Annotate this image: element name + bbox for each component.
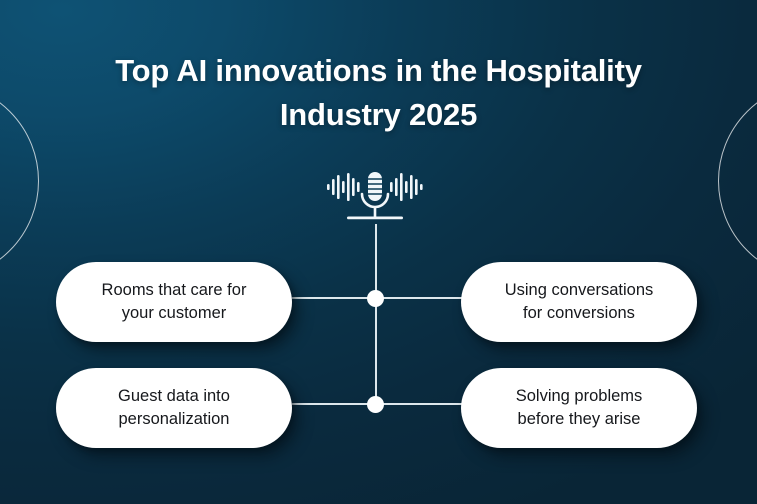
connector-line-vertical [375,224,377,404]
card-label: Solving problems before they arise [516,385,643,431]
card-conversations-conversions[interactable]: Using conversations for conversions [461,262,697,342]
card-label: Rooms that care for your customer [102,279,247,325]
connector-line-horizontal-bottom [292,403,464,405]
card-rooms-that-care[interactable]: Rooms that care for your customer [56,262,292,342]
connector-node-top [367,290,384,307]
card-solving-problems[interactable]: Solving problems before they arise [461,368,697,448]
card-label: Guest data into personalization [118,385,230,431]
connector-line-horizontal-top [292,297,464,299]
page-title: Top AI innovations in the Hospitality In… [0,49,757,137]
infographic-canvas: Top AI innovations in the Hospitality In… [0,0,757,504]
podcast-microphone-icon [325,170,425,228]
card-label: Using conversations for conversions [505,279,654,325]
card-guest-data[interactable]: Guest data into personalization [56,368,292,448]
connector-node-bottom [367,396,384,413]
